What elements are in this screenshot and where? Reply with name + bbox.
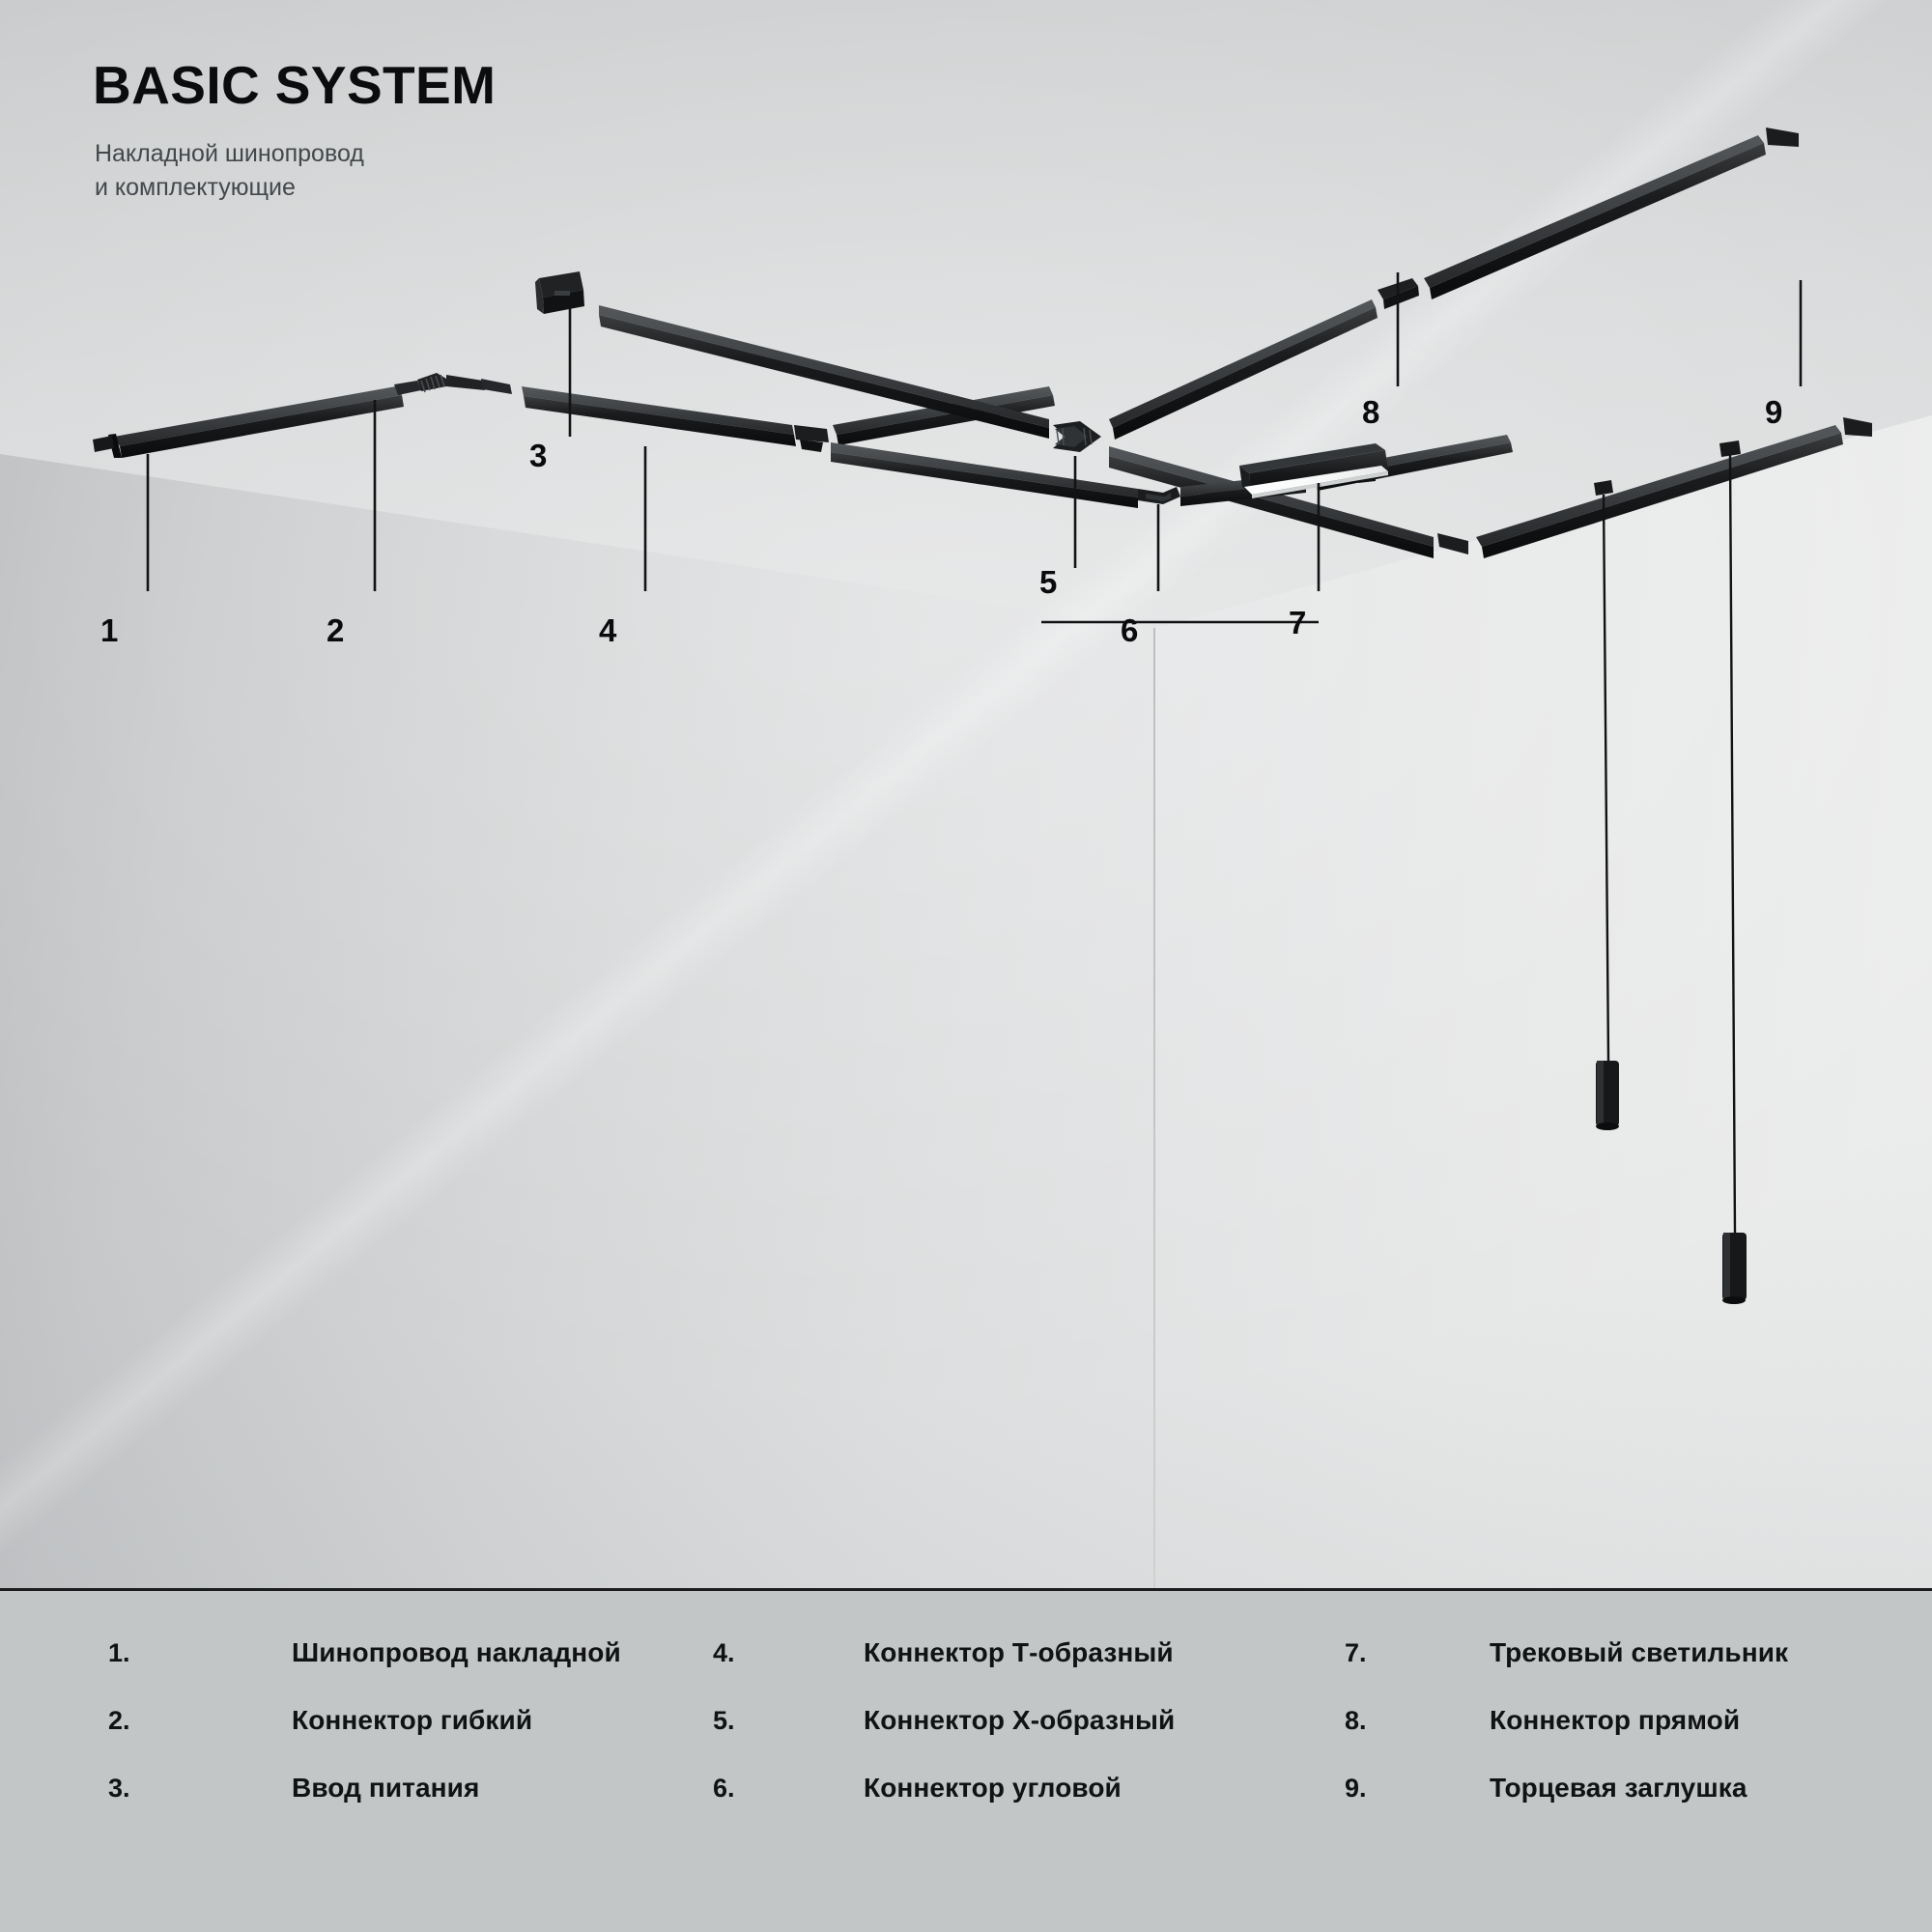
track-rail-x-upright xyxy=(1109,299,1378,440)
end-cap-left xyxy=(93,436,114,452)
legend-item-label: Коннектор угловой xyxy=(864,1773,1122,1804)
legend-item-number: 9. xyxy=(1275,1774,1490,1804)
end-cap-right xyxy=(1843,417,1872,437)
legend-item: 7. Трековый светильник xyxy=(1275,1637,1932,1705)
pendant-spot-1 xyxy=(1594,480,1619,1130)
pendant-spot-2 xyxy=(1719,440,1747,1304)
legend-item: 2. Коннектор гибкий xyxy=(0,1705,638,1773)
ceiling-scene: 1 2 3 4 5 6 7 8 9 xyxy=(0,0,1932,1589)
x-connector xyxy=(1053,421,1101,452)
legend-column-2: 4. Коннектор Т-образный 5. Коннектор X-о… xyxy=(638,1637,1275,1840)
corner-connector xyxy=(1138,487,1180,504)
legend-item-number: 3. xyxy=(0,1774,292,1804)
legend-item: 1. Шинопровод накладной xyxy=(0,1637,638,1705)
poster-root: 1 2 3 4 5 6 7 8 9 BASIC SYSTEM Накладной… xyxy=(0,0,1932,1932)
page-title: BASIC SYSTEM xyxy=(93,54,496,116)
legend-item-number: 7. xyxy=(1275,1638,1490,1668)
callout-number-1: 1 xyxy=(100,614,118,646)
legend-item: 6. Коннектор угловой xyxy=(638,1773,1275,1840)
track-rail-left-2 xyxy=(522,386,796,446)
track-rail-topright xyxy=(1424,135,1766,299)
track-rail-left-1 xyxy=(108,386,404,458)
page-subtitle: Накладной шинопровод и комплектующие xyxy=(95,137,364,205)
legend-item-number: 8. xyxy=(1275,1706,1490,1736)
straight-connector-right xyxy=(1437,533,1468,554)
legend-item: 3. Ввод питания xyxy=(0,1773,638,1840)
legend-item-number: 6. xyxy=(638,1774,864,1804)
legend-grid: 1. Шинопровод накладной 2. Коннектор гиб… xyxy=(0,1591,1932,1932)
legend-item: 9. Торцевая заглушка xyxy=(1275,1773,1932,1840)
track-system xyxy=(0,0,1932,1589)
legend-item-number: 1. xyxy=(0,1638,292,1668)
legend-item-label: Ввод питания xyxy=(292,1773,479,1804)
track-rail-pendant xyxy=(1476,425,1843,558)
legend-item-label: Шинопровод накладной xyxy=(292,1637,621,1668)
legend-item-number: 4. xyxy=(638,1638,864,1668)
page-subtitle-line2: и комплектующие xyxy=(95,171,364,205)
legend-item-label: Коннектор X-образный xyxy=(864,1705,1175,1736)
callout-number-3: 3 xyxy=(529,440,547,471)
legend-panel: 1. Шинопровод накладной 2. Коннектор гиб… xyxy=(0,1591,1932,1932)
legend-item: 5. Коннектор X-образный xyxy=(638,1705,1275,1773)
legend-item-label: Трековый светильник xyxy=(1490,1637,1788,1668)
callout-number-5: 5 xyxy=(1039,566,1057,598)
legend-item: 4. Коннектор Т-образный xyxy=(638,1637,1275,1705)
legend-column-3: 7. Трековый светильник 8. Коннектор прям… xyxy=(1275,1637,1932,1840)
end-cap-topright xyxy=(1766,128,1799,147)
callout-number-7: 7 xyxy=(1289,607,1306,639)
power-feed xyxy=(535,271,584,314)
track-rail-t-to-corner xyxy=(831,442,1138,508)
callout-number-6: 6 xyxy=(1121,614,1138,646)
callout-number-8: 8 xyxy=(1362,396,1379,428)
track-system-svg xyxy=(0,0,1932,1589)
legend-column-1: 1. Шинопровод накладной 2. Коннектор гиб… xyxy=(0,1637,638,1840)
legend-item-number: 5. xyxy=(638,1706,864,1736)
linear-track-luminaire xyxy=(1239,443,1388,498)
page-subtitle-line1: Накладной шинопровод xyxy=(95,137,364,171)
legend-item-label: Торцевая заглушка xyxy=(1490,1773,1747,1804)
legend-item-label: Коннектор прямой xyxy=(1490,1705,1740,1736)
t-connector xyxy=(794,425,829,452)
callout-number-4: 4 xyxy=(599,614,616,646)
legend-item: 8. Коннектор прямой xyxy=(1275,1705,1932,1773)
callout-number-9: 9 xyxy=(1765,396,1782,428)
callout-leader-lines xyxy=(148,272,1801,622)
legend-item-number: 2. xyxy=(0,1706,292,1736)
legend-item-label: Коннектор Т-образный xyxy=(864,1637,1174,1668)
flexible-connector xyxy=(394,373,512,395)
callout-number-2: 2 xyxy=(327,614,344,646)
legend-item-label: Коннектор гибкий xyxy=(292,1705,532,1736)
